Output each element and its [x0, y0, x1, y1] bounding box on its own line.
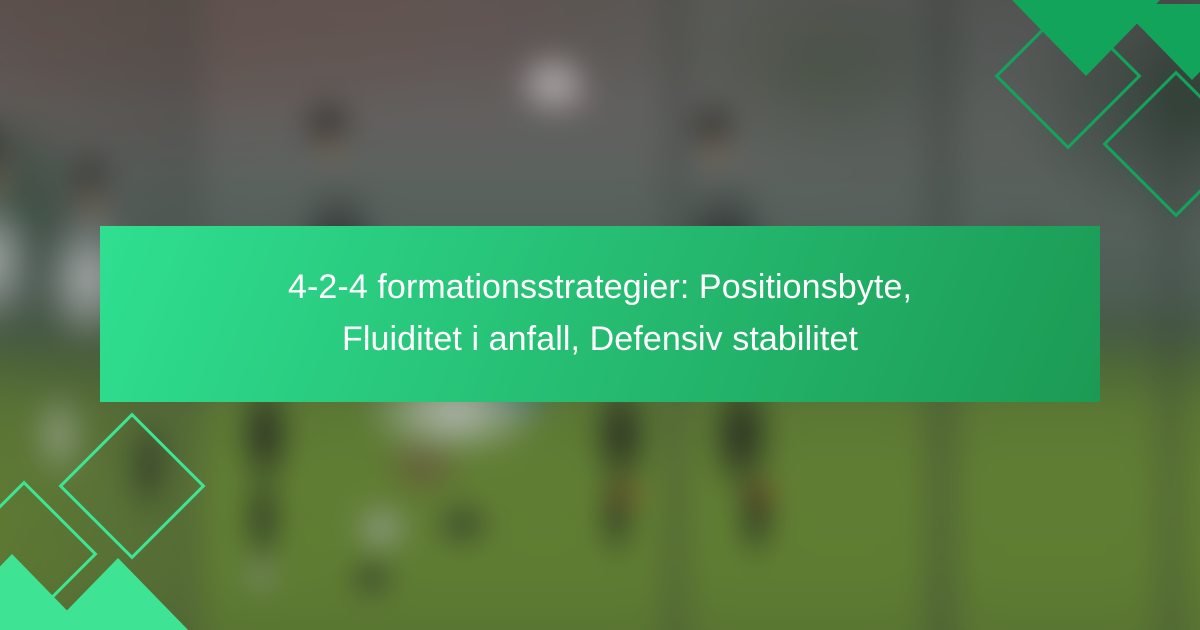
social-share-card: 4-2-4 formationsstrategier: Positionsbyt…	[0, 0, 1200, 630]
decoration-top-right	[990, 0, 1200, 200]
title-banner: 4-2-4 formationsstrategier: Positionsbyt…	[100, 226, 1100, 402]
decoration-bottom-left	[0, 430, 210, 630]
page-title: 4-2-4 formationsstrategier: Positionsbyt…	[288, 262, 912, 365]
